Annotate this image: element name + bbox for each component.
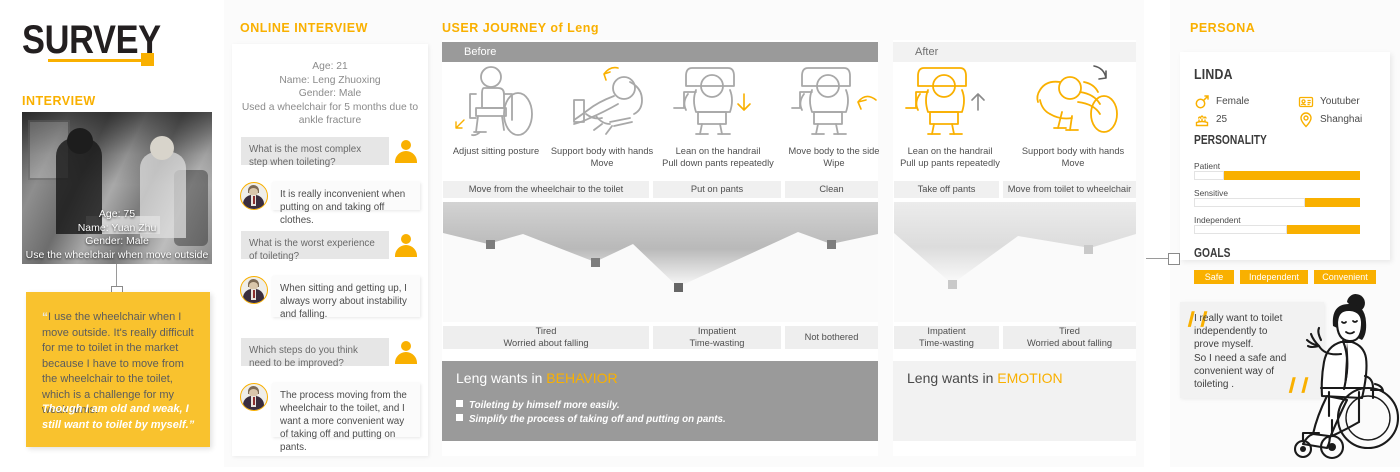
bio-note-2: ankle fracture	[236, 114, 424, 128]
trait-bar-sensitive	[1194, 198, 1360, 207]
trait-label-patient: Patient	[1194, 161, 1220, 171]
personality-heading: PERSONALITY	[1194, 133, 1267, 147]
after-phase-bar: After	[893, 42, 1136, 62]
before-step-2-caption-text: Support body with hands Move	[551, 146, 653, 168]
photo-interviewer-head	[67, 128, 93, 154]
before-emotion-label-1-text: Tired Worried about falling	[503, 326, 588, 349]
bio-name: Name: Leng Zhuoxing	[236, 74, 424, 88]
interview-photo: Age: 75 Name: Yuan Zhu Gender: Male Use …	[22, 112, 212, 264]
chat-answer-2: When sitting and getting up, I always wo…	[272, 276, 420, 317]
persona-fact-job: Youtuber	[1320, 96, 1360, 107]
user-journey-title: USER JOURNEY of Leng	[442, 21, 599, 35]
wants-behavior-heading-accent: BEHAVIOR	[546, 370, 617, 386]
photo-caption-note: Use the wheelchair when move outside	[22, 249, 212, 263]
photo-respondent-head	[150, 136, 174, 160]
chat-answer-1: It is really inconvenient when putting o…	[272, 182, 420, 210]
goal-chip-convenient: Convenient	[1314, 270, 1376, 284]
before-step-1-caption-text: Adjust sitting posture	[453, 146, 539, 156]
survey-quote-text: I use the wheelchair when I move outside…	[42, 311, 194, 416]
persona-connector-node	[1168, 253, 1180, 265]
title-underline	[48, 59, 148, 62]
checkbox-icon	[456, 400, 463, 407]
interviewer-avatar-3	[394, 340, 418, 364]
trait-bar-patient	[1194, 171, 1360, 180]
survey-connector-line	[116, 264, 117, 288]
before-emotion-label-1: Tired Worried about falling	[443, 326, 649, 349]
after-step-2-figure	[1022, 62, 1124, 140]
after-emotion-label-2: Tired Worried about falling	[1003, 326, 1136, 349]
id-card-icon	[1298, 94, 1314, 110]
wants-emotion-box: Leng wants in EMOTION Safe Easy Independ…	[893, 361, 1136, 441]
goals-heading: GOALS	[1194, 246, 1230, 260]
wants-behavior-list: Toileting by himself more easily. Simpli…	[456, 399, 726, 427]
after-step-2-caption: Support body with hands Move	[1014, 146, 1132, 169]
before-step-4-caption: Move body to the side Wipe	[784, 146, 884, 169]
chat-answer-3: The process moving from the wheelchair t…	[272, 383, 420, 437]
persona-fact-gender: Female	[1216, 96, 1249, 107]
bio-note-1: Used a wheelchair for 5 months due to	[236, 101, 424, 115]
respondent-avatar-2	[240, 276, 268, 304]
persona-fact-location: Shanghai	[1320, 114, 1362, 125]
before-step-3-caption-text: Lean on the handrail Pull down pants rep…	[662, 146, 774, 168]
wants-emotion-heading-accent: EMOTION	[997, 370, 1062, 386]
gender-icon	[1194, 94, 1210, 110]
page-title: SURVEY	[22, 20, 161, 60]
survey-quote-card: “I use the wheelchair when I move outsid…	[26, 292, 210, 447]
survey-quote-emphasis: Though I am old and weak, I still want t…	[42, 402, 198, 433]
after-emotion-label-1-text: Impatient Time-wasting	[919, 326, 974, 349]
wants-behavior-box: Leng wants in BEHAVIOR Toileting by hims…	[442, 361, 878, 441]
before-task-2: Put on pants	[653, 181, 781, 198]
after-step-1-figure	[900, 60, 996, 140]
persona-fact-job-value: Youtuber	[1320, 96, 1360, 107]
trait-label-independent: Independent	[1194, 215, 1241, 225]
wants-behavior-item-1: Toileting by himself more easily.	[456, 399, 726, 413]
interview-section-title: INTERVIEW	[22, 94, 96, 108]
quote-close-mark: ”	[189, 419, 195, 431]
trait-bar-independent	[1194, 225, 1360, 234]
before-emotion-chart	[443, 202, 878, 322]
persona-wheelchair-illustration	[1285, 292, 1400, 467]
photo-caption-age: Age: 75	[22, 208, 212, 222]
after-step-2-caption-text: Support body with hands Move	[1022, 146, 1124, 168]
trait-bar-patient-empty	[1194, 171, 1224, 180]
chat-question-3: Which steps do you think need to be impr…	[241, 338, 389, 366]
photo-caption-name: Name: Yuan Zhu	[22, 222, 212, 236]
after-task-1: Take off pants	[894, 181, 999, 198]
persona-section-title: PERSONA	[1190, 21, 1255, 35]
before-phase-label: Before	[464, 46, 496, 58]
before-task-3: Clean	[785, 181, 878, 198]
goal-chip-independent: Independent	[1240, 270, 1308, 284]
after-step-1-caption-text: Lean on the handrail Pull up pants repea…	[900, 146, 1000, 168]
after-phase-label: After	[915, 46, 938, 58]
interviewer-avatar-1	[394, 139, 418, 163]
after-emotion-label-2-text: Tired Worried about falling	[1027, 326, 1112, 349]
persona-fact-location-value: Shanghai	[1320, 114, 1362, 125]
trait-bar-sensitive-empty	[1194, 198, 1305, 207]
persona-fact-gender-value: Female	[1216, 96, 1249, 107]
wants-behavior-heading-prefix: Leng wants in	[456, 370, 546, 386]
photo-caption-gender: Gender: Male	[22, 235, 212, 249]
after-task-2: Move from toilet to wheelchair	[1003, 181, 1136, 198]
wants-emotion-heading-prefix: Leng wants in	[907, 370, 997, 386]
persona-fact-age-value: 25	[1216, 114, 1227, 125]
before-emotion-label-2-text: Impatient Time-wasting	[690, 326, 745, 349]
wants-emotion-heading: Leng wants in EMOTION	[907, 370, 1063, 386]
trait-label-sensitive: Sensitive	[1194, 188, 1228, 198]
before-step-1-figure	[446, 64, 546, 140]
before-step-3-figure	[668, 60, 764, 140]
chat-question-2: What is the worst experience of toiletin…	[241, 231, 389, 259]
before-step-3-caption: Lean on the handrail Pull down pants rep…	[654, 146, 782, 169]
birthday-cake-icon	[1194, 112, 1210, 128]
before-step-4-figure	[786, 60, 882, 140]
goal-chip-safe: Safe	[1194, 270, 1234, 284]
after-emotion-chart	[894, 202, 1136, 322]
title-accent-square	[141, 53, 154, 66]
chat-question-1: What is the most complex step when toile…	[241, 137, 389, 165]
before-emotion-label-3: Not bothered	[785, 326, 878, 349]
checkbox-icon	[456, 414, 463, 421]
persona-fact-age: 25	[1216, 114, 1227, 125]
respondent-avatar-3	[240, 383, 268, 411]
after-step-1-caption: Lean on the handrail Pull up pants repea…	[896, 146, 1004, 169]
before-phase-bar: Before	[442, 42, 878, 62]
bio-gender: Gender: Male	[236, 87, 424, 101]
interviewer-avatar-2	[394, 233, 418, 257]
before-step-1-caption: Adjust sitting posture	[446, 146, 546, 158]
wants-behavior-heading: Leng wants in BEHAVIOR	[456, 370, 618, 386]
wants-behavior-item-2-text: Simplify the process of taking off and p…	[469, 414, 726, 425]
before-step-4-caption-text: Move body to the side Wipe	[789, 146, 880, 168]
before-step-2-caption: Support body with hands Move	[542, 146, 662, 169]
wants-behavior-item-1-text: Toileting by himself more easily.	[469, 400, 620, 411]
survey-quote-emphasis-text: Though I am old and weak, I still want t…	[42, 403, 189, 431]
respondent-avatar-1	[240, 182, 268, 210]
survey-poster: SURVEY INTERVIEW Age: 75 Name: Yuan Zhu …	[0, 0, 1400, 467]
bio-age: Age: 21	[236, 60, 424, 74]
before-emotion-label-3-text: Not bothered	[805, 332, 859, 344]
persona-name: LINDA	[1194, 66, 1233, 83]
persona-connector-line	[1146, 258, 1170, 259]
online-interview-title: ONLINE INTERVIEW	[240, 21, 368, 35]
online-interview-bio: Age: 21 Name: Leng Zhuoxing Gender: Male…	[236, 60, 424, 128]
before-step-2-figure	[552, 64, 654, 140]
after-emotion-label-1: Impatient Time-wasting	[894, 326, 999, 349]
wants-behavior-item-2: Simplify the process of taking off and p…	[456, 413, 726, 427]
trait-bar-independent-empty	[1194, 225, 1287, 234]
photo-caption: Age: 75 Name: Yuan Zhu Gender: Male Use …	[22, 208, 212, 262]
before-task-1: Move from the wheelchair to the toilet	[443, 181, 649, 198]
before-emotion-label-2: Impatient Time-wasting	[653, 326, 781, 349]
location-pin-icon	[1298, 112, 1314, 128]
